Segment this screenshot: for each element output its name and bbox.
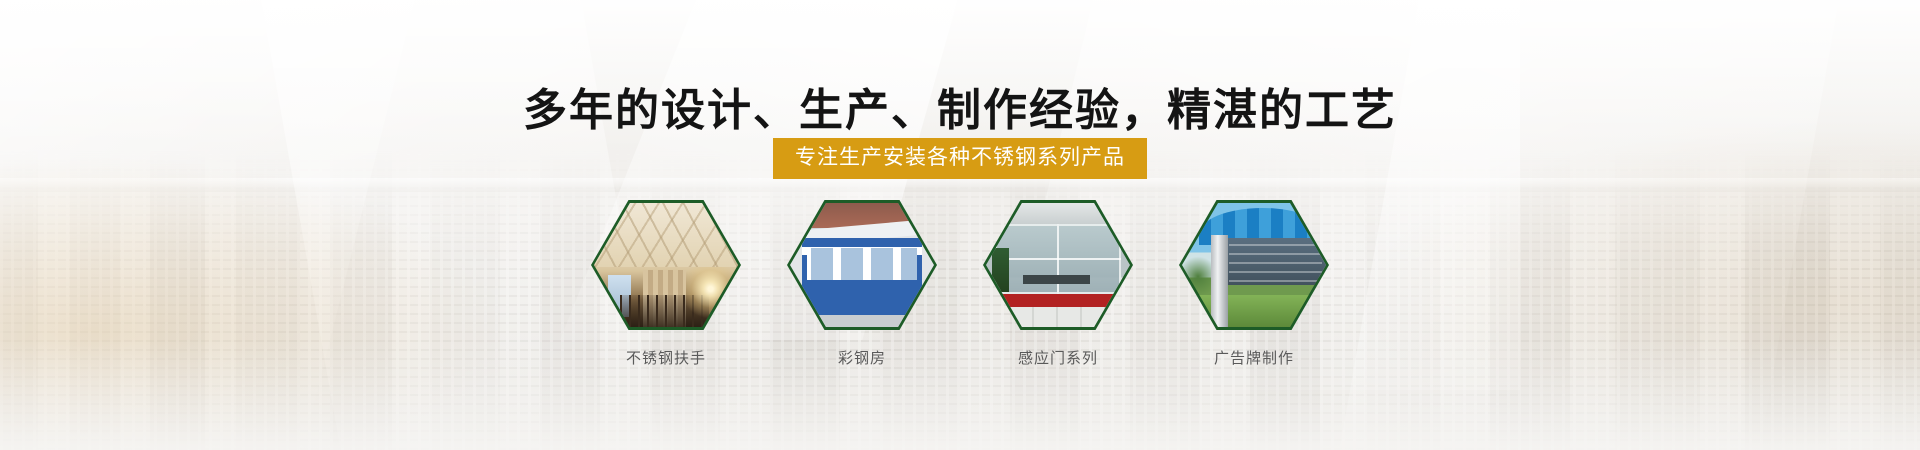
product-card[interactable]: 感应门系列 — [978, 200, 1138, 368]
hexagon-frame — [787, 200, 937, 330]
product-card[interactable]: 不锈钢扶手 — [586, 200, 746, 368]
hero-banner: 多年的设计、生产、制作经验，精湛的工艺 专注生产安装各种不锈钢系列产品 不锈钢扶… — [0, 0, 1920, 450]
product-card-row: 不锈钢扶手 彩钢房 — [0, 200, 1920, 368]
banner-subtitle-badge: 专注生产安装各种不锈钢系列产品 — [773, 138, 1147, 179]
product-card-label: 不锈钢扶手 — [626, 347, 706, 368]
color-steel-room-photo — [790, 203, 934, 327]
hexagon-frame — [1179, 200, 1329, 330]
billboard-production-photo — [1182, 203, 1326, 327]
banner-content: 多年的设计、生产、制作经验，精湛的工艺 专注生产安装各种不锈钢系列产品 不锈钢扶… — [0, 0, 1920, 450]
sensor-door-photo — [986, 203, 1130, 327]
stainless-steel-handrail-photo — [594, 203, 738, 327]
product-card-label: 彩钢房 — [838, 347, 886, 368]
hexagon-frame — [983, 200, 1133, 330]
product-card-label: 广告牌制作 — [1214, 347, 1294, 368]
product-card[interactable]: 广告牌制作 — [1174, 200, 1334, 368]
banner-subtitle-wrapper: 专注生产安装各种不锈钢系列产品 — [0, 138, 1920, 179]
product-card-label: 感应门系列 — [1018, 347, 1098, 368]
product-card[interactable]: 彩钢房 — [782, 200, 942, 368]
banner-headline: 多年的设计、生产、制作经验，精湛的工艺 — [0, 74, 1920, 138]
hexagon-frame — [591, 200, 741, 330]
